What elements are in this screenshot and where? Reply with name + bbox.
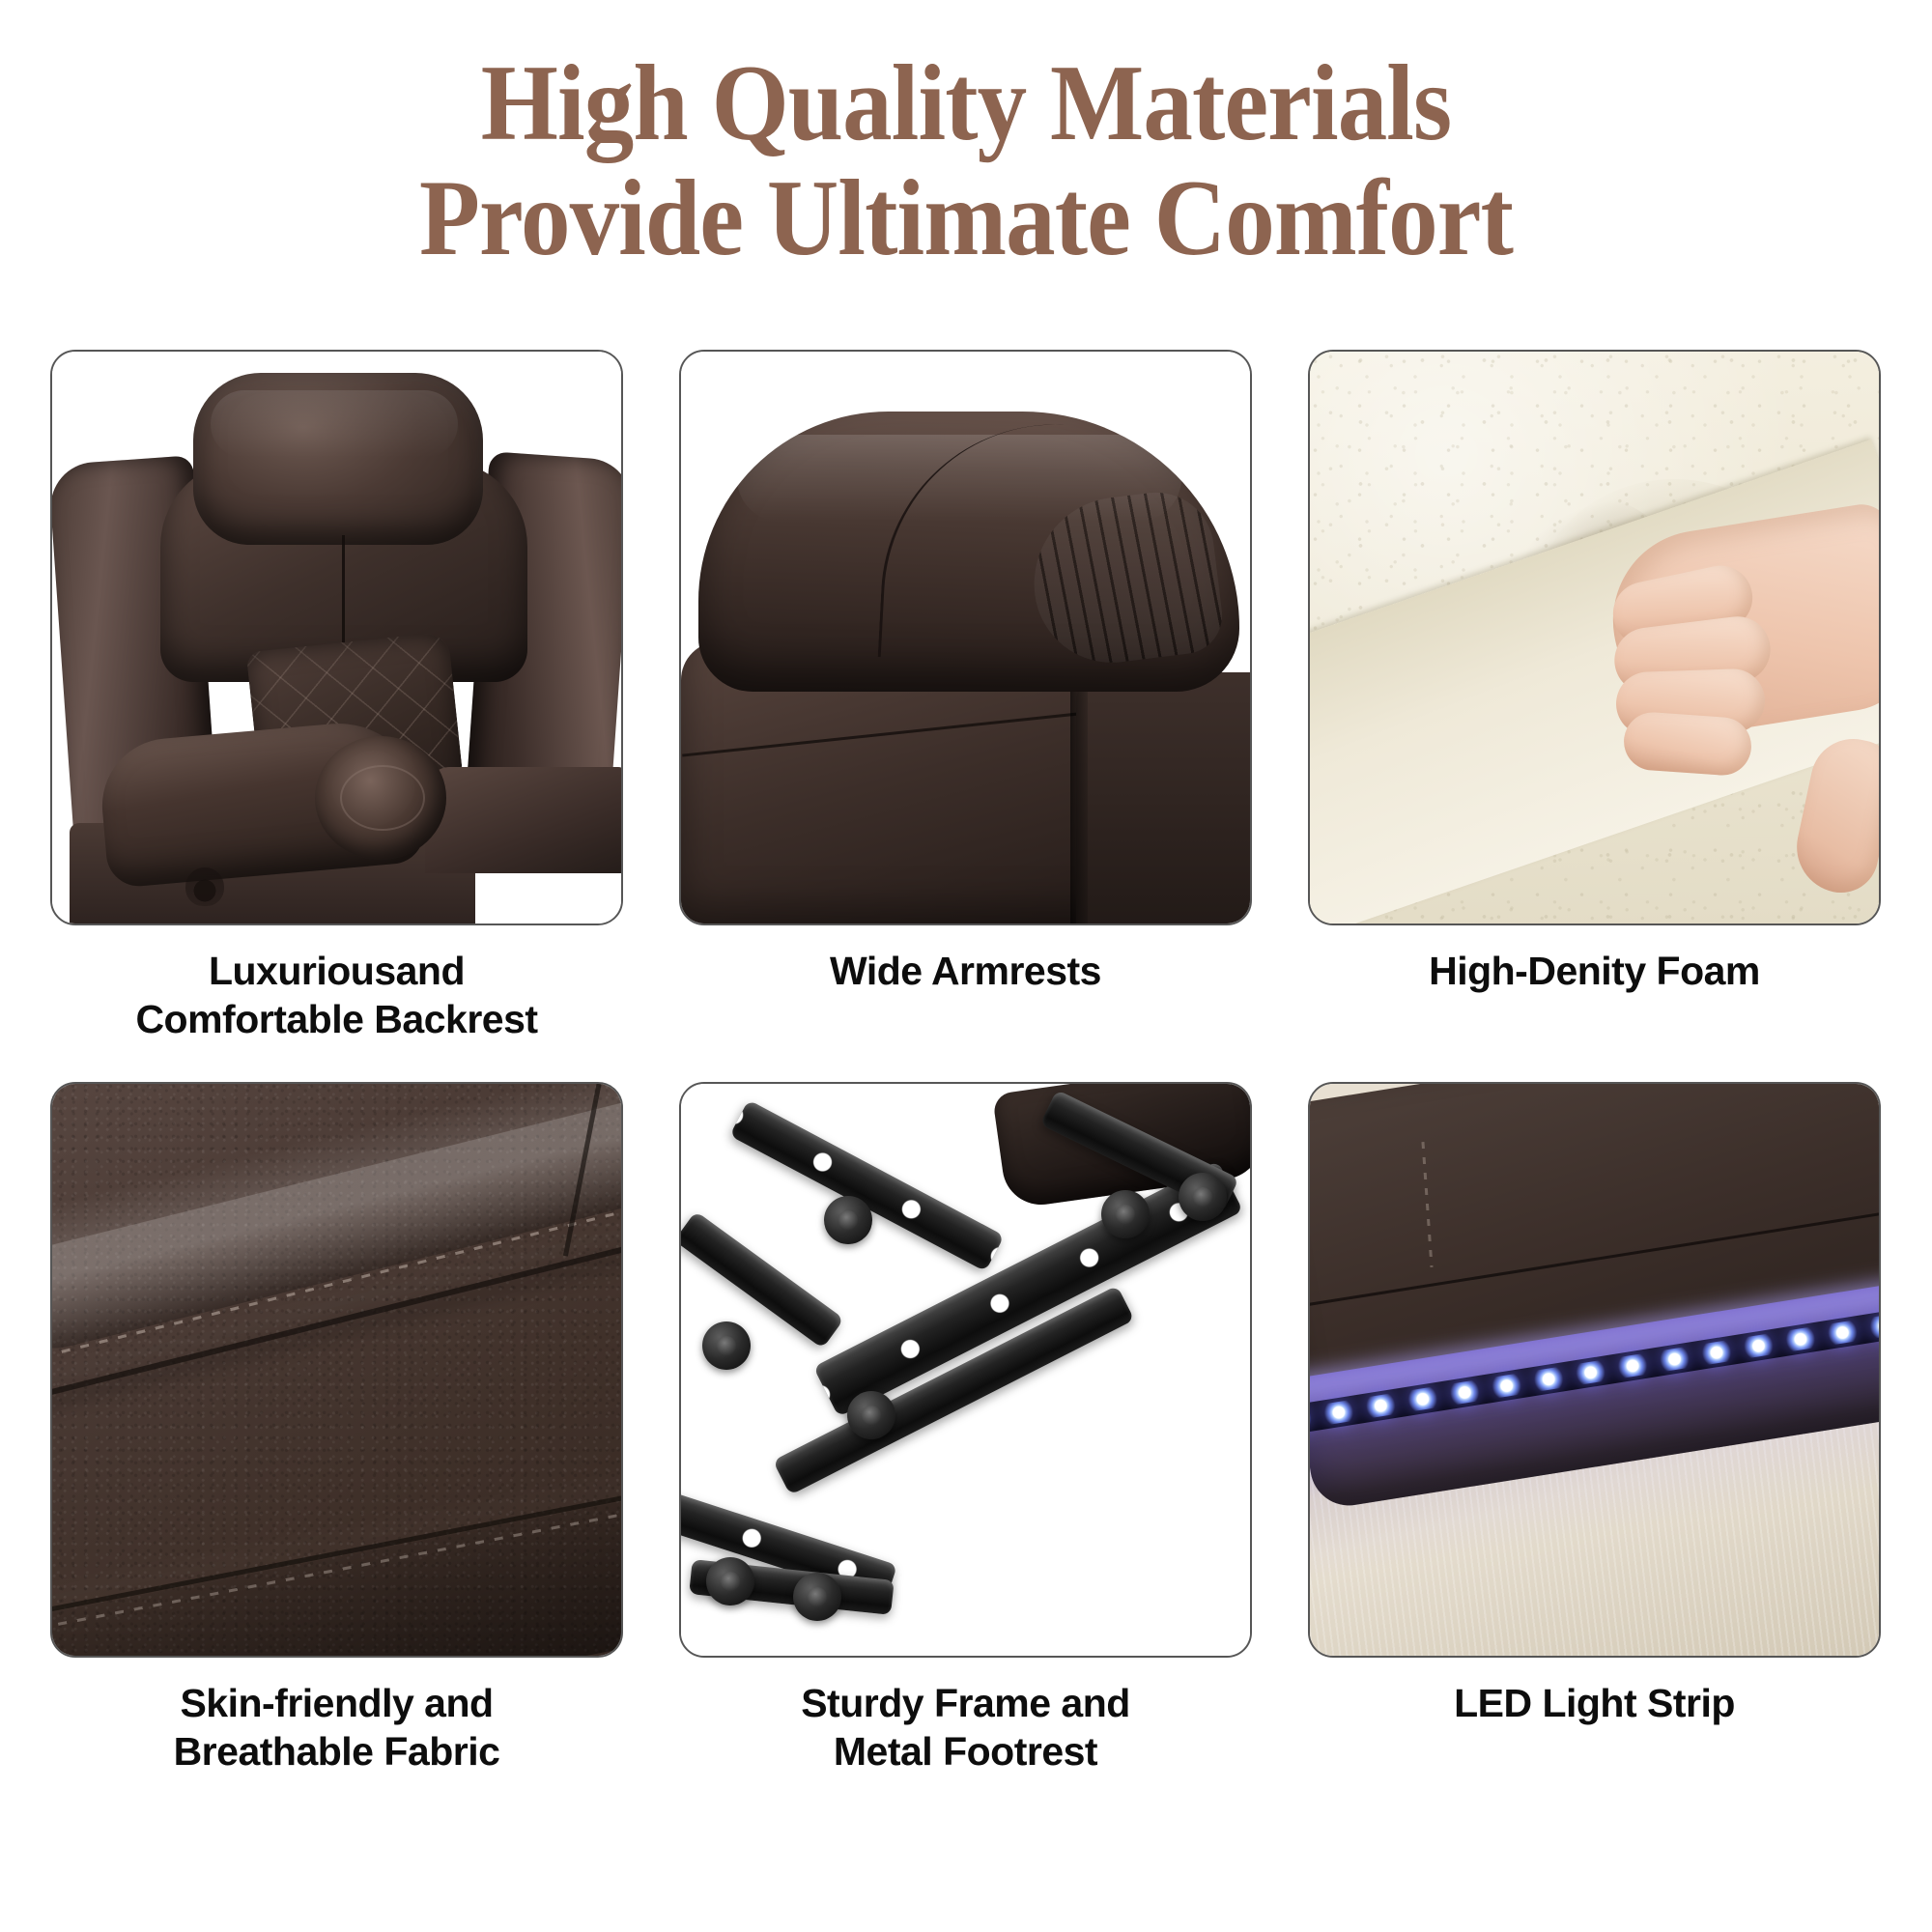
feature-cell-fabric: Skin-friendly and Breathable Fabric bbox=[50, 1082, 623, 1776]
infographic-page: High Quality Materials Provide Ultimate … bbox=[0, 0, 1932, 1932]
feature-image-foam bbox=[1308, 350, 1881, 925]
feature-image-led bbox=[1308, 1082, 1881, 1658]
feature-grid: Luxuriousand Comfortable Backrest Wide A… bbox=[50, 350, 1882, 1776]
feature-cell-backrest: Luxuriousand Comfortable Backrest bbox=[50, 350, 623, 1043]
caption-line-1: LED Light Strip bbox=[1308, 1679, 1881, 1727]
feature-cell-frame: Sturdy Frame and Metal Footrest bbox=[679, 1082, 1252, 1776]
brand-emblem-icon bbox=[185, 867, 224, 906]
frame-pivot-bolt-1 bbox=[824, 1196, 872, 1244]
frame-bar-upper-left bbox=[679, 1211, 844, 1349]
feature-image-armrests bbox=[679, 350, 1252, 925]
feature-caption-backrest: Luxuriousand Comfortable Backrest bbox=[50, 947, 623, 1043]
caption-line-1: Luxuriousand bbox=[50, 947, 623, 995]
armrest-side-panel bbox=[1076, 672, 1250, 925]
backrest-seam bbox=[342, 535, 345, 651]
foam-illustration bbox=[1310, 352, 1879, 923]
frame-pivot-bolt-5 bbox=[793, 1573, 841, 1621]
recliner-illustration bbox=[52, 352, 621, 923]
feature-caption-frame: Sturdy Frame and Metal Footrest bbox=[679, 1679, 1252, 1776]
caption-line-1: Sturdy Frame and bbox=[679, 1679, 1252, 1727]
frame-pivot-bolt-4 bbox=[706, 1557, 754, 1605]
feature-caption-fabric: Skin-friendly and Breathable Fabric bbox=[50, 1679, 623, 1776]
hand-finger-pinky bbox=[1622, 710, 1753, 777]
page-title: High Quality Materials Provide Ultimate … bbox=[77, 46, 1855, 275]
frame-pivot-bolt-6 bbox=[1101, 1190, 1150, 1238]
feature-caption-foam: High-Denity Foam bbox=[1308, 947, 1881, 995]
feature-caption-led: LED Light Strip bbox=[1308, 1679, 1881, 1727]
headrest-cushion bbox=[193, 373, 483, 545]
caption-line-1: High-Denity Foam bbox=[1308, 947, 1881, 995]
feature-image-backrest bbox=[50, 350, 623, 925]
caption-line-2: Breathable Fabric bbox=[50, 1727, 623, 1776]
caption-line-1: Skin-friendly and bbox=[50, 1679, 623, 1727]
feature-cell-led: LED Light Strip bbox=[1308, 1082, 1881, 1776]
feature-cell-foam: High-Denity Foam bbox=[1308, 350, 1881, 1043]
leather-illustration bbox=[52, 1084, 621, 1656]
feature-caption-armrests: Wide Armrests bbox=[679, 947, 1252, 995]
feature-image-frame bbox=[679, 1082, 1252, 1658]
hand-pressing-foam bbox=[1576, 452, 1881, 771]
metal-frame-illustration bbox=[681, 1084, 1250, 1656]
page-title-line-1: High Quality Materials bbox=[77, 46, 1855, 161]
feature-image-fabric bbox=[50, 1082, 623, 1658]
recliner-seat bbox=[425, 767, 623, 873]
frame-pivot-bolt-7 bbox=[1179, 1173, 1227, 1221]
frame-pivot-bolt-2 bbox=[702, 1321, 751, 1370]
page-title-line-2: Provide Ultimate Comfort bbox=[77, 161, 1855, 276]
caption-line-2: Metal Footrest bbox=[679, 1727, 1252, 1776]
caption-line-1: Wide Armrests bbox=[679, 947, 1252, 995]
caption-line-2: Comfortable Backrest bbox=[50, 995, 623, 1043]
armrest-side-gap bbox=[1070, 680, 1088, 925]
led-illustration bbox=[1310, 1084, 1879, 1656]
armrest-roll-cap bbox=[315, 736, 446, 860]
armrest-illustration bbox=[681, 352, 1250, 923]
feature-cell-armrests: Wide Armrests bbox=[679, 350, 1252, 1043]
frame-pivot-bolt-3 bbox=[847, 1391, 895, 1439]
